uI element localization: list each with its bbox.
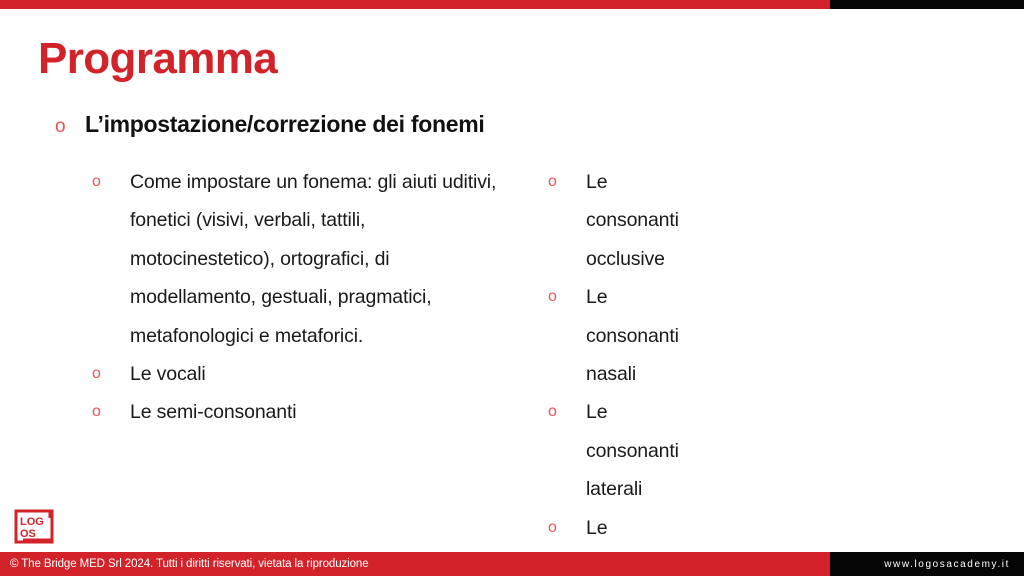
footer-website: www.logosacademy.it [830, 552, 1024, 576]
content-columns: oCome impostare un fonema: gli aiuti udi… [0, 163, 1024, 576]
list-item: oLe consonanti laterali [548, 393, 586, 508]
left-bullet-list: oCome impostare un fonema: gli aiuti udi… [92, 163, 502, 432]
circle-bullet-icon: o [548, 393, 557, 431]
list-item: oLe consonanti occlusive [548, 163, 586, 278]
list-item-label: Le consonanti occlusive [586, 171, 679, 270]
svg-text:LOG: LOG [20, 516, 44, 528]
slide: Programma o L’impostazione/correzione de… [0, 0, 1024, 576]
logos-logo-icon: LOG OS [14, 509, 56, 545]
circle-bullet-icon: o [92, 393, 101, 431]
circle-bullet-icon: o [92, 355, 101, 393]
list-item-label: Come impostare un fonema: gli aiuti udit… [130, 171, 496, 347]
section-heading-label: L’impostazione/correzione dei fonemi [85, 111, 484, 138]
list-item: oLe vocali [92, 355, 502, 393]
circle-bullet-icon: o [92, 163, 101, 201]
list-item: oLe semi-consonanti [92, 393, 502, 431]
svg-text:OS: OS [20, 528, 36, 540]
circle-bullet-icon: o [548, 509, 557, 547]
list-item-label: Le semi-consonanti [130, 401, 296, 423]
footer-bar: © The Bridge MED Srl 2024. Tutti i dirit… [0, 552, 1024, 576]
circle-bullet-icon: o [548, 278, 557, 316]
list-item: oLe consonanti nasali [548, 278, 586, 393]
circle-bullet-icon: o [55, 117, 85, 136]
list-item: oCome impostare un fonema: gli aiuti udi… [92, 163, 502, 355]
list-item-label: Le vocali [130, 363, 206, 385]
footer-copyright: © The Bridge MED Srl 2024. Tutti i dirit… [0, 552, 830, 576]
section-heading: o L’impostazione/correzione dei fonemi [55, 111, 484, 138]
list-item-label: Le consonanti nasali [586, 286, 679, 385]
logos-logo: LOG OS [14, 509, 56, 545]
circle-bullet-icon: o [548, 163, 557, 201]
top-bar-red-segment [0, 0, 830, 9]
page-title: Programma [38, 36, 277, 82]
top-bar-black-segment [830, 0, 1024, 9]
top-accent-bar [0, 0, 1024, 9]
list-item-label: Le consonanti laterali [586, 401, 679, 500]
